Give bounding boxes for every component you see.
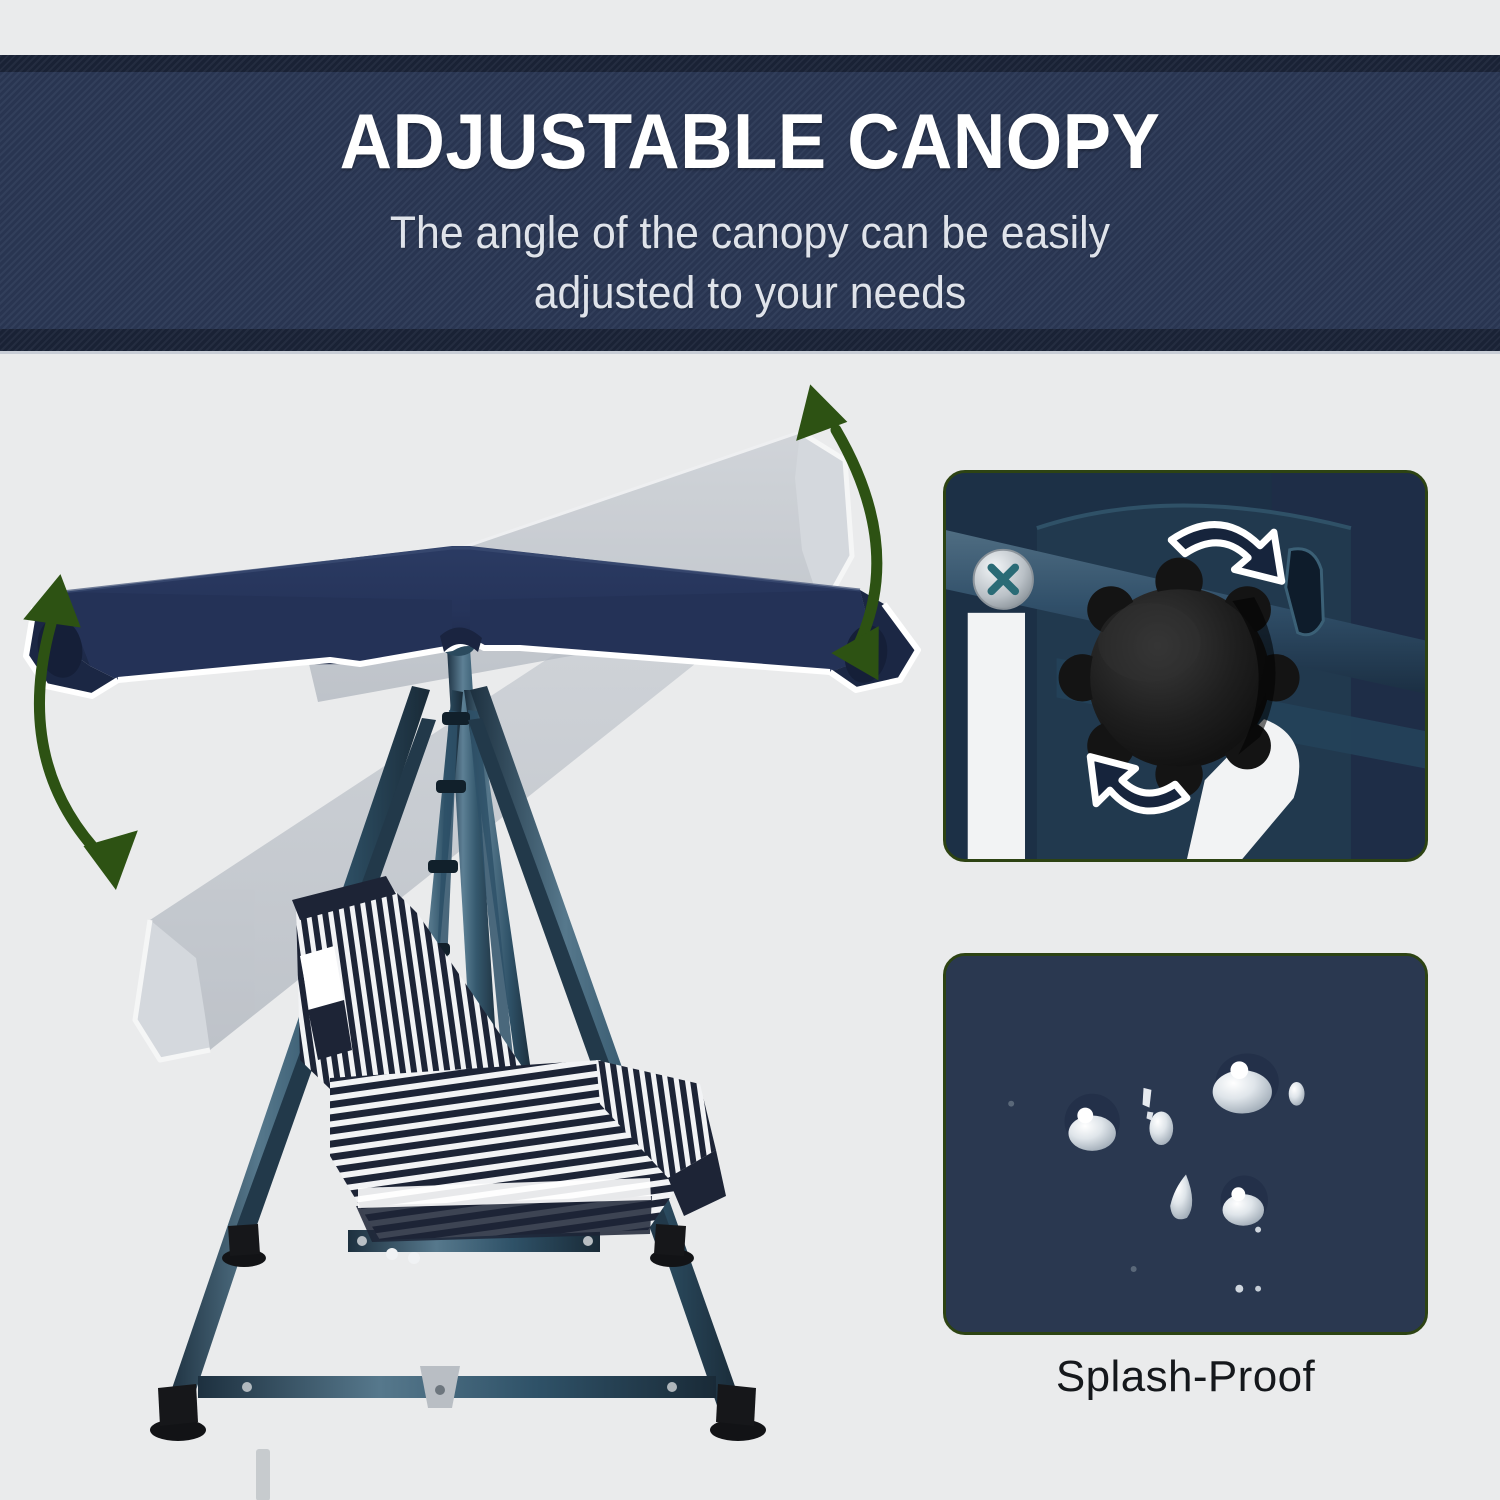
page-subtitle: The angle of the canopy can be easily ad…	[275, 203, 1225, 323]
knob-closeup-illustration	[946, 473, 1425, 859]
page-subtitle-line-1: The angle of the canopy can be easily	[275, 203, 1225, 263]
splash-proof-caption: Splash-Proof	[943, 1352, 1428, 1402]
header-banner: ADJUSTABLE CANOPY The angle of the canop…	[0, 55, 1500, 354]
product-illustration	[0, 360, 930, 1500]
page-subtitle-line-2: adjusted to your needs	[275, 263, 1225, 323]
banner-top-edge	[0, 55, 1500, 72]
detail-panel-splash-proof	[943, 953, 1428, 1335]
water-droplets-illustration	[946, 956, 1425, 1332]
detail-panel-knob	[943, 470, 1428, 862]
infographic-page: ADJUSTABLE CANOPY The angle of the canop…	[0, 0, 1500, 1500]
banner-bottom-edge	[0, 329, 1500, 354]
swing-feet	[150, 1224, 766, 1441]
product-photo-swing-chair	[0, 360, 930, 1500]
page-title: ADJUSTABLE CANOPY	[53, 99, 1448, 183]
